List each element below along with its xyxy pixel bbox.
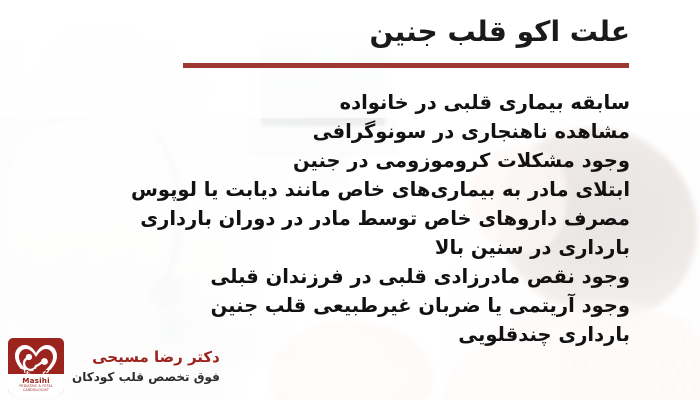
clinic-logo-block: Dr. Reza Masihi PEDIATRIC & FETAL CARDIO…	[8, 338, 220, 394]
doctor-specialty: فوق تخصص قلب کودکان	[72, 369, 220, 385]
list-item: مشاهده ناهنجاری در سونوگرافی	[30, 117, 630, 146]
cause-list: سابقه بیماری قلبی در خانواده مشاهده ناهن…	[30, 88, 630, 349]
clinic-logo-text: دکتر رضا مسیحی فوق تخصص قلب کودکان	[72, 347, 220, 385]
doctor-name: دکتر رضا مسیحی	[72, 347, 220, 367]
slide-content: علت اکو قلب جنین سابقه بیماری قلبی در خا…	[0, 0, 700, 400]
logo-brand-en: Dr. Reza Masihi	[8, 367, 64, 385]
list-item: وجود نقص مادرزادی قلبی در فرزندان قبلی	[30, 262, 630, 291]
list-item: سابقه بیماری قلبی در خانواده	[30, 88, 630, 117]
page-title: علت اکو قلب جنین	[369, 14, 630, 49]
list-item: وجود مشکلات کروموزومی در جنین	[30, 146, 630, 175]
logo-brand-en-subtitle: PEDIATRIC & FETAL CARDIOLOGIST	[8, 384, 64, 392]
list-item: بارداری در سنین بالا	[30, 233, 630, 262]
list-item: مصرف داروهای خاص توسط مادر در دوران بارد…	[30, 204, 630, 233]
list-item: ابتلای مادر به بیماری‌های خاص مانند دیاب…	[30, 175, 630, 204]
title-underline-rule	[183, 63, 629, 68]
heart-stethoscope-icon: Dr. Reza Masihi PEDIATRIC & FETAL CARDIO…	[8, 338, 64, 394]
slide-canvas: علت اکو قلب جنین سابقه بیماری قلبی در خا…	[0, 0, 700, 400]
list-item: وجود آریتمی یا ضربان غیرطبیعی قلب جنین	[30, 291, 630, 320]
